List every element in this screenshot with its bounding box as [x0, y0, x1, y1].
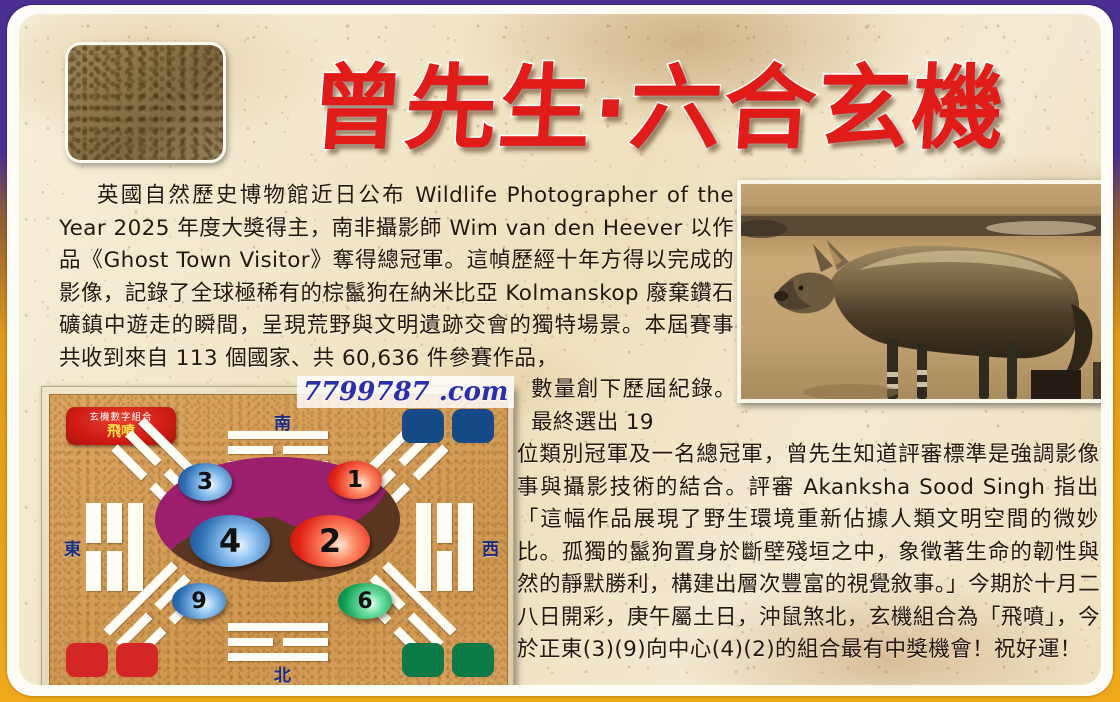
- direction-east: 東: [64, 535, 81, 560]
- site-watermark: 7799787 .com: [297, 376, 514, 408]
- direction-west: 西: [482, 535, 499, 560]
- logo-tile: [65, 42, 226, 163]
- bagua-board: 玄機數字組合 飛噴 南 北 東 西: [49, 394, 508, 685]
- number-ball-1[interactable]: 1: [328, 461, 382, 499]
- bagua-board-frame: 玄機數字組合 飛噴 南 北 東 西: [41, 386, 514, 685]
- direction-north: 北: [274, 661, 291, 685]
- article-paragraph-middle: 數量創下歷屆紀錄。最終選出 19: [531, 374, 736, 439]
- corner-chip-blue-2: [452, 409, 494, 443]
- trigram-north-icon: [228, 623, 328, 663]
- paper-background: 曾先生·六合玄機: [19, 14, 1101, 685]
- number-ball-4[interactable]: 4: [190, 515, 270, 567]
- number-ball-9[interactable]: 9: [172, 583, 226, 619]
- corner-chip-red-1: [66, 643, 108, 677]
- number-ball-2[interactable]: 2: [290, 515, 370, 567]
- page-title: 曾先生·六合玄機: [230, 44, 1088, 156]
- trigram-west-icon: [416, 503, 474, 591]
- newspaper-page: 曾先生·六合玄機: [0, 0, 1120, 702]
- corner-chip-green-2: [452, 643, 494, 677]
- corner-chip-red-2: [116, 643, 158, 677]
- article-paragraph-bottom: 位類別冠軍及一名總冠軍，曾先生知道評審標準是強調影像敘事與攝影技術的結合。評審 …: [517, 439, 1101, 667]
- number-ball-6[interactable]: 6: [338, 583, 392, 619]
- corner-chip-green-1: [402, 643, 444, 677]
- hyena-photo: [737, 180, 1101, 403]
- article-paragraph-top: 英國自然歷史博物館近日公布 Wildlife Photographer of t…: [59, 180, 734, 375]
- page-bezel: 曾先生·六合玄機: [7, 5, 1113, 696]
- corner-chip-blue-1: [402, 409, 444, 443]
- hyena-photo-illustration: [741, 184, 1101, 399]
- number-ball-3[interactable]: 3: [178, 463, 232, 501]
- trigram-east-icon: [86, 503, 144, 591]
